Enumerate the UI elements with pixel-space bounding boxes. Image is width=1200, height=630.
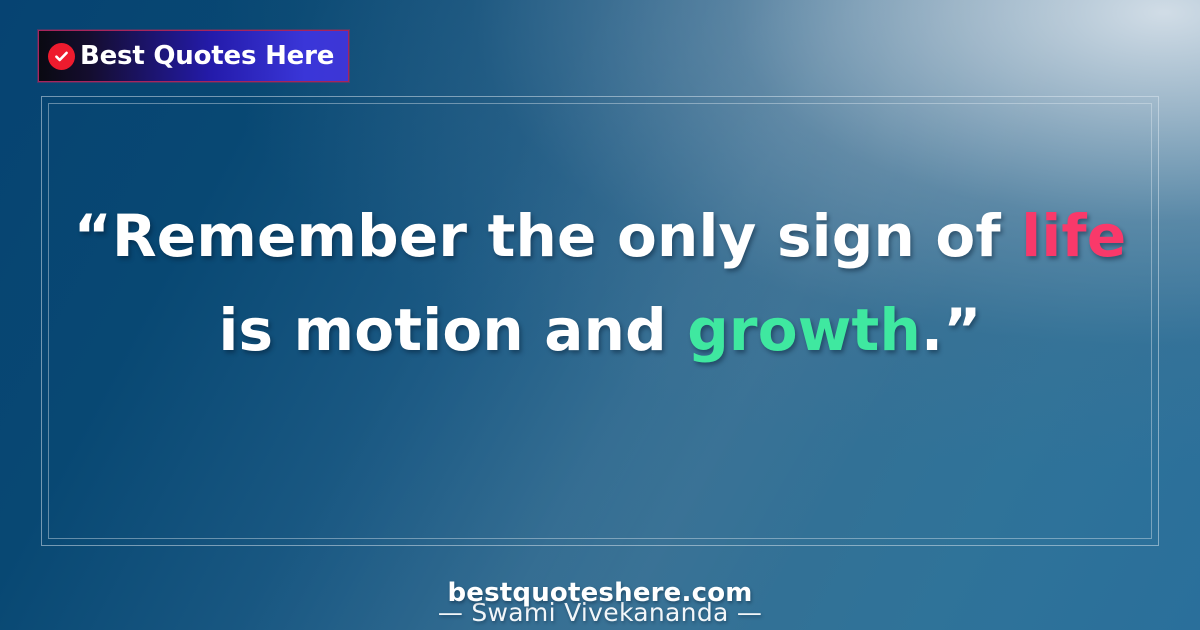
quote-card: Best Quotes Here “Remember the only sign…: [0, 0, 1200, 630]
footer-website-url: bestquoteshere.com: [0, 578, 1200, 608]
quote-open-mark: “: [74, 202, 112, 270]
quote-block: “Remember the only sign of life is motio…: [70, 190, 1130, 378]
quote-part-3: .: [921, 296, 943, 364]
quote-part-1: Remember the only sign of: [112, 202, 1021, 270]
check-circle-icon: [48, 43, 75, 70]
quote-close-mark: ”: [943, 296, 981, 364]
brand-badge-label: Best Quotes Here: [80, 41, 334, 71]
quote-highlight-growth: growth: [687, 296, 921, 364]
quote-highlight-life: life: [1021, 202, 1126, 270]
quote-part-2: is motion and: [218, 296, 687, 364]
brand-badge[interactable]: Best Quotes Here: [38, 30, 349, 82]
quote-text: “Remember the only sign of life is motio…: [70, 190, 1130, 378]
quote-line-1: “Remember the only sign of life is motio…: [74, 202, 1127, 364]
